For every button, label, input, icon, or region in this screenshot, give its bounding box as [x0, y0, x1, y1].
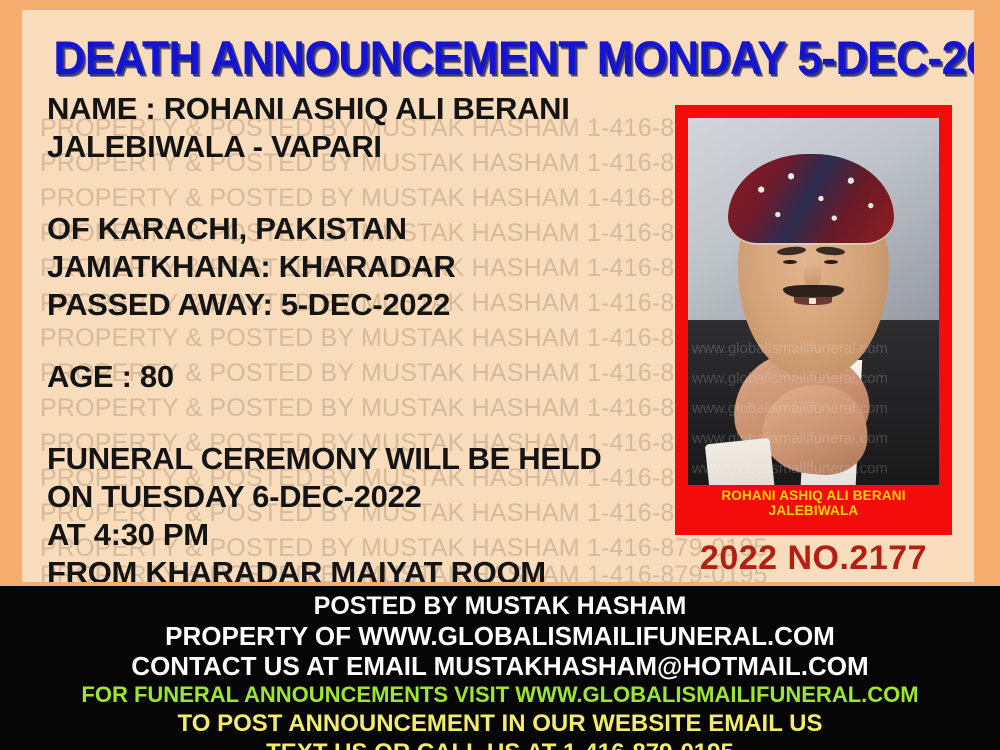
- passed-away-line: PASSED AWAY: 5-DEC-2022: [47, 286, 667, 324]
- death-announcement-poster: PROPERTY & POSTED BY MUSTAK HASHAM 1-416…: [0, 0, 1000, 750]
- spacer: [47, 166, 667, 210]
- poster-title: DEATH ANNOUNCEMENT MONDAY 5-DEC-2022: [22, 30, 974, 85]
- name-line-1: NAME : ROHANI ASHIQ ALI BERANI: [47, 90, 667, 128]
- spacer: [47, 396, 667, 440]
- photo-caption: ROHANI ASHIQ ALI BERANI JALEBIWALA: [688, 485, 939, 522]
- deceased-photo-frame: www.globalismailifuneral.com www.globali…: [675, 105, 952, 535]
- deceased-photo: www.globalismailifuneral.com www.globali…: [688, 118, 939, 522]
- funeral-line-2: ON TUESDAY 6-DEC-2022: [47, 478, 667, 516]
- footer-line-property-of: PROPERTY OF WWW.GLOBALISMAILIFUNERAL.COM: [0, 621, 1000, 651]
- footer-line-post-info: TO POST ANNOUNCEMENT IN OUR WEBSITE EMAI…: [0, 709, 1000, 738]
- footer-line-website: FOR FUNERAL ANNOUNCEMENTS VISIT WWW.GLOB…: [0, 681, 1000, 709]
- eye-right: [824, 260, 838, 264]
- reference-number: 2022 NO.2177: [675, 539, 952, 578]
- tooth-shape: [809, 298, 817, 304]
- footer-line-posted-by: POSTED BY MUSTAK HASHAM: [0, 586, 1000, 621]
- eye-left: [783, 260, 797, 264]
- funeral-line-1: FUNERAL CEREMONY WILL BE HELD: [47, 440, 667, 478]
- age-line: AGE : 80: [47, 358, 667, 396]
- funeral-line-4: FROM KHARADAR MAIYAT ROOM: [47, 554, 667, 582]
- eyebrow-right: [816, 245, 845, 255]
- city-line: OF KARACHI, PAKISTAN: [47, 210, 667, 248]
- jamatkhana-line: JAMATKHANA: KHARADAR: [47, 248, 667, 286]
- footer-line-contact: CONTACT US AT EMAIL MUSTAKHASHAM@HOTMAIL…: [0, 651, 1000, 681]
- poster-title-text: DEATH ANNOUNCEMENT MONDAY 5-DEC-2022: [53, 30, 974, 85]
- eyebrow-left: [777, 245, 806, 255]
- footer-line-phone: TEXT US OR CALL US AT 1-416-879-0195: [0, 738, 1000, 750]
- spacer: [47, 324, 667, 358]
- announcement-body: NAME : ROHANI ASHIQ ALI BERANI JALEBIWAL…: [47, 90, 667, 582]
- poster-footer: POSTED BY MUSTAK HASHAM PROPERTY OF WWW.…: [0, 586, 1000, 750]
- funeral-line-3: AT 4:30 PM: [47, 516, 667, 554]
- announcement-card: PROPERTY & POSTED BY MUSTAK HASHAM 1-416…: [22, 10, 974, 582]
- name-line-2: JALEBIWALA - VAPARI: [47, 128, 667, 166]
